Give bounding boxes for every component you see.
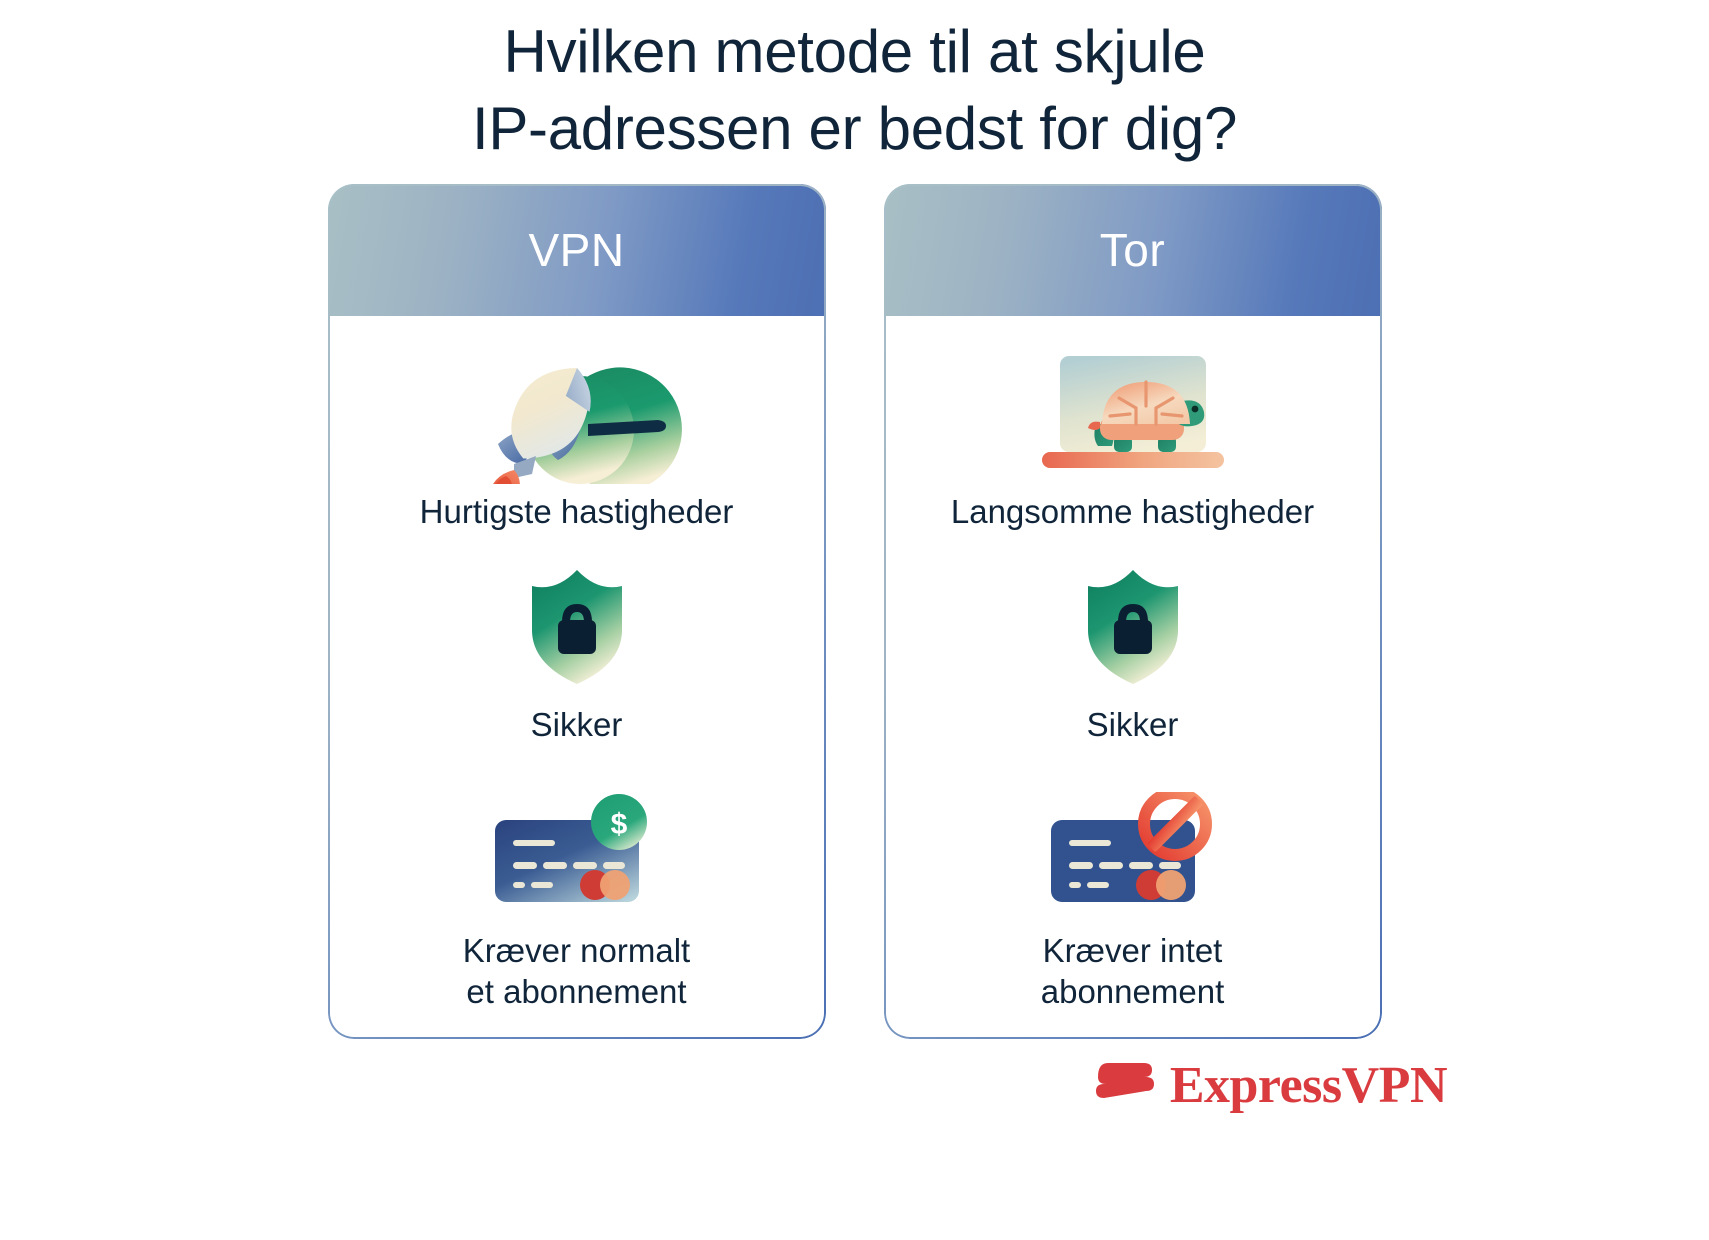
card-header-tor: Tor — [884, 184, 1382, 316]
feature-label-vpn-secure: Sikker — [531, 705, 623, 746]
card-header-vpn: VPN — [328, 184, 826, 316]
card-body-tor: Langsomme hastigheder — [884, 316, 1382, 1039]
comparison-card-tor: Tor — [884, 184, 1382, 1039]
feature-label-vpn-price: Kræver normalt et abonnement — [463, 931, 690, 1013]
feature-label-vpn-speed: Hurtigste hastigheder — [420, 492, 734, 533]
feature-vpn-price: $ Kræver normalt et abonnement — [328, 745, 826, 1013]
expressvpn-logo: ExpressVPN — [1094, 1057, 1447, 1114]
card-body-vpn: Hurtigste hastigheder — [328, 316, 826, 1039]
card-header-title-tor: Tor — [1100, 223, 1165, 277]
shield-lock-icon — [522, 563, 632, 691]
feature-tor-price: Kræver intet abonnement — [884, 745, 1382, 1013]
feature-vpn-speed: Hurtigste hastigheder — [328, 334, 826, 533]
expressvpn-mark-icon — [1094, 1057, 1156, 1114]
comparison-cards-row: VPN — [0, 184, 1709, 1039]
feature-label-tor-price: Kræver intet abonnement — [1041, 931, 1224, 1013]
credit-card-dollar-icon: $ — [487, 787, 667, 915]
laptop-turtle-icon — [1018, 344, 1248, 484]
rocket-speedometer-icon — [462, 344, 692, 484]
feature-tor-speed: Langsomme hastigheder — [884, 334, 1382, 533]
svg-text:$: $ — [610, 808, 627, 841]
shield-lock-icon — [1078, 563, 1188, 691]
feature-label-tor-secure: Sikker — [1087, 705, 1179, 746]
page-title-line-1: Hvilken metode til at skjule — [0, 14, 1709, 91]
credit-card-prohibited-icon — [1043, 787, 1223, 915]
card-header-title-vpn: VPN — [528, 223, 624, 277]
feature-tor-secure: Sikker — [884, 533, 1382, 746]
feature-label-tor-speed: Langsomme hastigheder — [951, 492, 1314, 533]
comparison-card-vpn: VPN — [328, 184, 826, 1039]
page-title: Hvilken metode til at skjule IP-adressen… — [0, 0, 1709, 168]
expressvpn-wordmark: ExpressVPN — [1170, 1060, 1447, 1112]
page-title-line-2: IP-adressen er bedst for dig? — [0, 91, 1709, 168]
feature-vpn-secure: Sikker — [328, 533, 826, 746]
